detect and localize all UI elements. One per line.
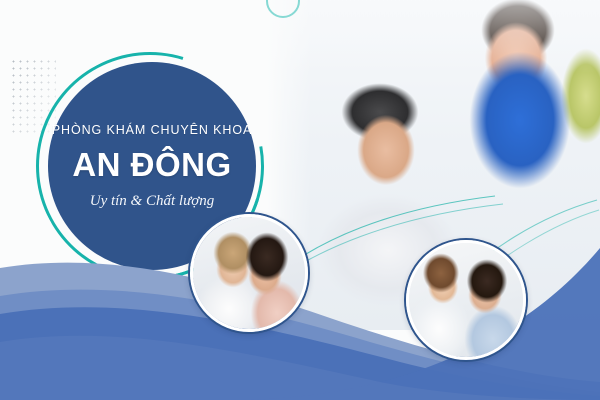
female-doctor-patient-image [193, 217, 305, 329]
inset-photo-left [190, 214, 308, 332]
nurse-wheelchair-patient-image [409, 243, 523, 357]
brand-tagline: Uy tín & Chất lượng [90, 193, 215, 210]
inset-photo-right [406, 240, 526, 360]
clinic-banner: PHÒNG KHÁM CHUYÊN KHOA AN ĐÔNG Uy tín & … [0, 0, 600, 400]
brand-subtitle: PHÒNG KHÁM CHUYÊN KHOA [52, 123, 252, 137]
brand-title: AN ĐÔNG [72, 146, 231, 184]
